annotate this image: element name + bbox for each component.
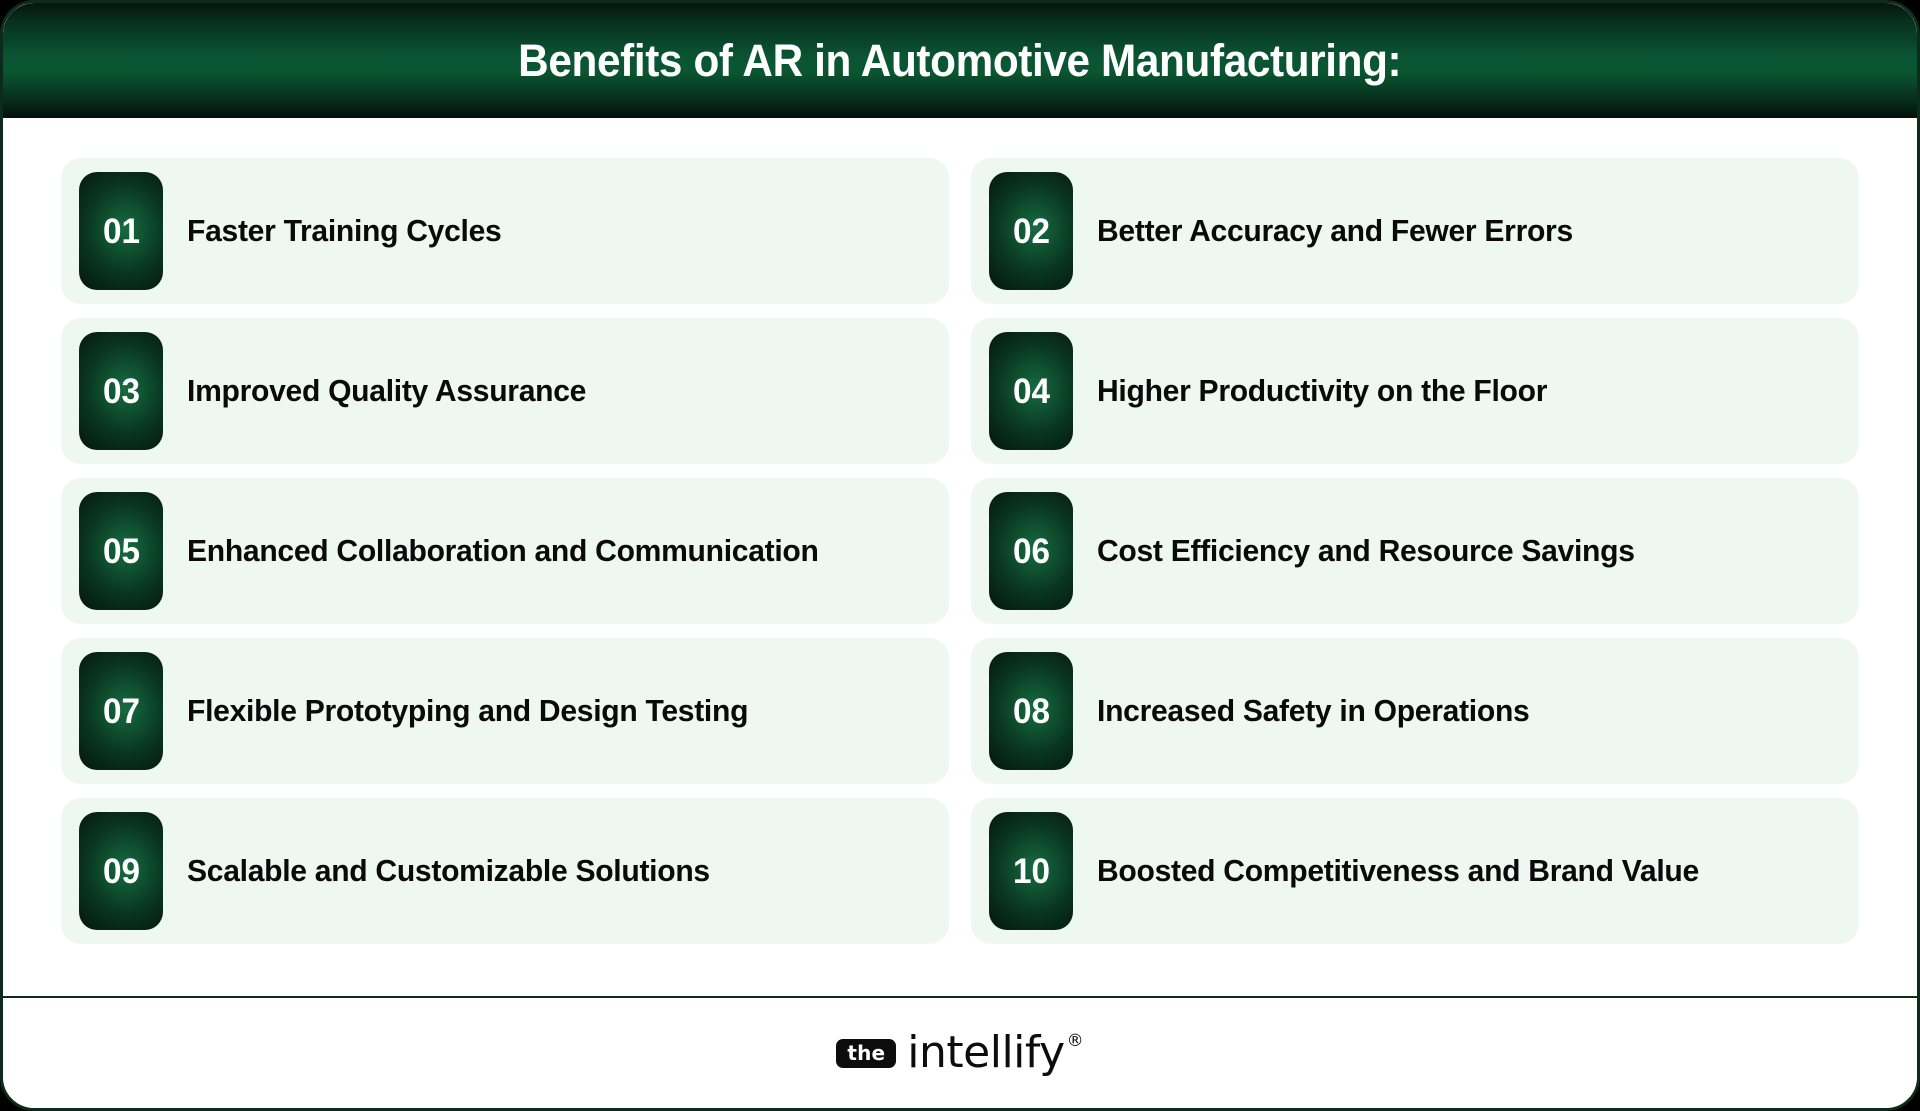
benefit-number: 06 [1013,534,1050,569]
benefit-label: Flexible Prototyping and Design Testing [187,691,748,732]
benefit-number-badge: 07 [79,652,163,770]
benefit-card-09[interactable]: 09 Scalable and Customizable Solutions [61,798,949,944]
benefits-body: 01 Faster Training Cycles 02 Better Accu… [3,118,1917,996]
page-title: Benefits of AR in Automotive Manufacturi… [518,36,1401,86]
benefit-card-05[interactable]: 05 Enhanced Collaboration and Communicat… [61,478,949,624]
benefit-card-06[interactable]: 06 Cost Efficiency and Resource Savings [971,478,1859,624]
benefit-label: Scalable and Customizable Solutions [187,851,710,892]
benefit-number-badge: 03 [79,332,163,450]
brand-name-wrap: intellify ® [907,1031,1083,1075]
benefit-number: 09 [103,854,140,889]
benefit-number-badge: 09 [79,812,163,930]
benefit-number: 02 [1013,214,1050,249]
benefit-label: Faster Training Cycles [187,211,501,252]
benefit-number-badge: 04 [989,332,1073,450]
benefit-number-badge: 05 [79,492,163,610]
benefit-label: Improved Quality Assurance [187,371,586,412]
benefit-number-badge: 10 [989,812,1073,930]
infographic-frame: Benefits of AR in Automotive Manufacturi… [0,0,1920,1111]
benefit-number-badge: 06 [989,492,1073,610]
benefit-label: Cost Efficiency and Resource Savings [1097,531,1635,572]
benefit-card-02[interactable]: 02 Better Accuracy and Fewer Errors [971,158,1859,304]
registered-trademark-icon: ® [1067,1033,1084,1050]
benefit-number: 01 [103,214,140,249]
benefit-number: 07 [103,694,140,729]
benefit-number: 10 [1013,854,1050,889]
benefit-card-04[interactable]: 04 Higher Productivity on the Floor [971,318,1859,464]
benefit-number-badge: 02 [989,172,1073,290]
benefit-label: Higher Productivity on the Floor [1097,371,1547,412]
benefit-label: Increased Safety in Operations [1097,691,1529,732]
benefit-card-08[interactable]: 08 Increased Safety in Operations [971,638,1859,784]
benefit-label: Enhanced Collaboration and Communication [187,531,819,572]
benefit-number-badge: 01 [79,172,163,290]
benefit-number: 03 [103,374,140,409]
brand-name: intellify [907,1031,1064,1075]
brand-the-badge: the [836,1039,896,1068]
benefit-number: 04 [1013,374,1050,409]
benefit-number: 08 [1013,694,1050,729]
benefit-card-10[interactable]: 10 Boosted Competitiveness and Brand Val… [971,798,1859,944]
footer-area: the intellify ® [3,998,1917,1108]
benefit-number-badge: 08 [989,652,1073,770]
benefit-label: Better Accuracy and Fewer Errors [1097,211,1573,252]
benefits-grid: 01 Faster Training Cycles 02 Better Accu… [61,158,1859,944]
benefit-label: Boosted Competitiveness and Brand Value [1097,851,1699,892]
benefit-number: 05 [103,534,140,569]
benefit-card-01[interactable]: 01 Faster Training Cycles [61,158,949,304]
brand-logo[interactable]: the intellify ® [836,1031,1083,1075]
header-banner: Benefits of AR in Automotive Manufacturi… [3,3,1917,118]
benefit-card-07[interactable]: 07 Flexible Prototyping and Design Testi… [61,638,949,784]
benefit-card-03[interactable]: 03 Improved Quality Assurance [61,318,949,464]
